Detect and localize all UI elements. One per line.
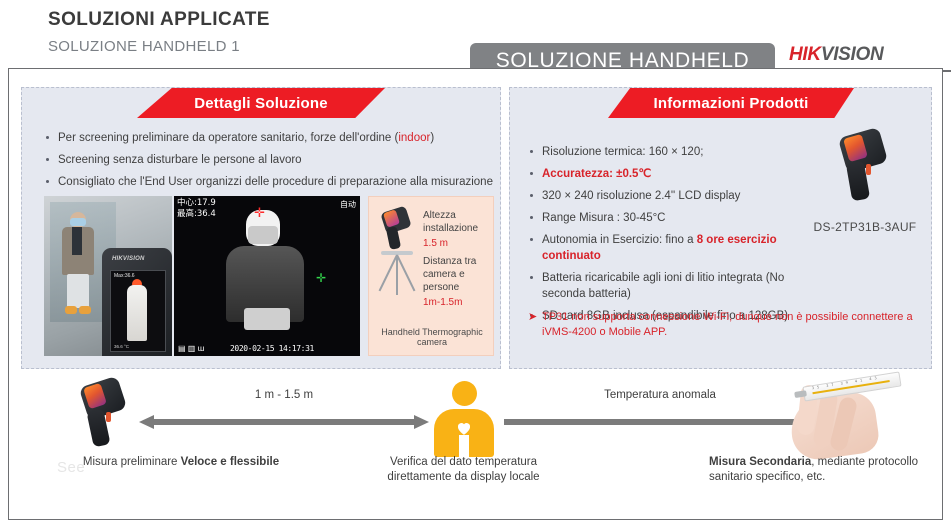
solution-details-list: Per screening preliminare da operatore s… — [44, 130, 494, 196]
person-scarf — [72, 227, 82, 255]
page-title: SOLUZIONI APPLICATE — [48, 9, 270, 31]
installation-info-text: Altezza installazione 1.5 m Distanza tra… — [423, 209, 489, 314]
workflow-handheld-camera-icon — [61, 379, 141, 457]
hikvision-logo: HIKVISION — [789, 44, 883, 66]
logo-vision-text: VISION — [821, 44, 884, 65]
spec-text: Range Misura : 30-45°C — [542, 212, 666, 224]
spec-text: Batteria ricaricabile agli ioni di litio… — [542, 272, 784, 300]
arrow-head-left-icon — [139, 415, 154, 429]
list-item: Autonomia in Esercizio: fino a 8 ore ese… — [528, 232, 798, 264]
slide-frame: Dettagli Soluzione Per screening prelimi… — [8, 68, 943, 520]
product-camera-trigger — [866, 164, 871, 175]
bullet-highlight: indoor — [398, 132, 430, 144]
install-distance-value: 1m-1.5m — [423, 296, 489, 309]
arrow-right-icon: ➤ — [528, 310, 537, 325]
caption1-text: Misura preliminare — [83, 456, 181, 468]
person-mask — [70, 218, 86, 226]
left-panel-banner-label: Dettagli Soluzione — [194, 95, 328, 112]
thermal-status-icons: ▤ ▥ ɯ — [178, 344, 204, 353]
kiosk-screen-top-text: Max:36.6 — [114, 273, 135, 279]
bullet-text: Screening senza disturbare le persone al… — [58, 154, 302, 166]
caption1-bold: Veloce e flessibile — [181, 456, 279, 468]
slide-header: SOLUZIONI APPLICATE SOLUZIONE HANDHELD 1… — [0, 0, 951, 68]
thermometer-tip — [794, 390, 807, 398]
thermal-timestamp: 2020-02-15 14:17:31 — [230, 344, 314, 353]
right-panel-banner: Informazioni Prodotti — [608, 88, 854, 118]
person-shoe-left — [65, 306, 77, 314]
tripod-stand — [377, 247, 417, 299]
kiosk-screen-figure — [127, 285, 147, 341]
left-panel-banner: Dettagli Soluzione — [137, 88, 385, 118]
person-leg-gap — [459, 435, 469, 457]
product-model-label: DS-2TP31B-3AUF — [798, 220, 932, 234]
thermal-max-temp: 最高:36.4 — [177, 209, 216, 220]
thermal-person-mask — [248, 226, 278, 244]
info-box-caption: Handheld Thermographic camera — [374, 327, 490, 347]
person-legs — [67, 274, 89, 308]
image-row: HIKVISION Max:36.6 36.6 °C 中心:17.9 — [44, 196, 494, 356]
caption3-bold: Misura Secondaria — [709, 456, 811, 468]
list-item: 320 × 240 risoluzione 2.4'' LCD display — [528, 188, 798, 204]
distance-label: 1 m - 1.5 m — [139, 389, 429, 401]
list-item: Range Misura : 30-45°C — [528, 210, 798, 226]
wifi-note-text: TP31 non supporta connessione Wi-Fi, dun… — [528, 310, 918, 340]
visible-light-photo: HIKVISION Max:36.6 36.6 °C — [44, 196, 172, 356]
panel-informazioni-prodotti: Informazioni Prodotti Risoluzione termic… — [509, 87, 932, 369]
arrow-bar — [153, 419, 415, 425]
hand-thermometer-illustration: 35 37 39 41 43 — [773, 377, 903, 459]
list-item: Risoluzione termica: 160 × 120; — [528, 144, 798, 160]
installation-info-box: Altezza installazione 1.5 m Distanza tra… — [368, 196, 494, 356]
person-shoe-right — [79, 306, 91, 314]
spec-text: Autonomia in Esercizio: fino a — [542, 234, 697, 246]
list-item: Consigliato che l'End User organizzi del… — [44, 174, 494, 190]
logo-hik-text: HIK — [789, 44, 821, 65]
spec-text-accuracy: Accuratezza: ±0.5℃ — [542, 168, 651, 180]
workflow-caption-2: Verifica del dato temperatura direttamen… — [371, 455, 556, 485]
tripod-camera-illustration — [375, 207, 419, 307]
bullet-text: Consigliato che l'End User organizzi del… — [58, 176, 493, 188]
thermal-person-hands — [244, 308, 290, 330]
thermal-max-crosshair-icon: ✛ — [254, 206, 265, 219]
list-item: Accuratezza: ±0.5℃ — [528, 166, 798, 182]
bullet-text-after: ) — [430, 132, 434, 144]
workflow-caption-1: Misura preliminare Veloce e flessibile — [71, 455, 291, 470]
product-spec-list: Risoluzione termica: 160 × 120; Accurate… — [528, 144, 798, 330]
kiosk-brand-label: HIKVISION — [112, 256, 144, 262]
anomaly-arrow — [504, 415, 816, 429]
kiosk-screen: Max:36.6 36.6 °C — [110, 270, 166, 352]
list-item: Screening senza disturbare le persone al… — [44, 152, 494, 168]
anomaly-label: Temperatura anomala — [504, 389, 816, 401]
panel-dettagli-soluzione: Dettagli Soluzione Per screening prelimi… — [21, 87, 501, 369]
thermal-center-temp: 中心:17.9 — [177, 198, 216, 209]
thermal-readout: 中心:17.9 最高:36.4 — [177, 198, 216, 220]
spec-text: Risoluzione termica: 160 × 120; — [542, 146, 703, 158]
photo-person — [60, 212, 96, 316]
spec-text: 320 × 240 risoluzione 2.4'' LCD display — [542, 190, 740, 202]
tripod-leg — [396, 255, 415, 292]
install-distance-label: Distanza tra camera e persone — [423, 255, 489, 294]
workflow-diagram: See 1 m - 1.5 m Temperatura anomala — [21, 375, 932, 510]
workflow-caption-3: Misura Secondaria, mediante protocollo s… — [709, 455, 939, 485]
thermal-kiosk: HIKVISION Max:36.6 36.6 °C — [102, 248, 172, 356]
list-item: Per screening preliminare da operatore s… — [44, 130, 494, 146]
product-image: DS-2TP31B-3AUF — [810, 128, 920, 258]
heart-icon — [455, 419, 473, 437]
page-subtitle: SOLUZIONE HANDHELD 1 — [48, 38, 240, 55]
thermal-auto-label: 自动 — [340, 199, 356, 210]
person-icon — [433, 381, 495, 457]
thermal-image: 中心:17.9 最高:36.4 自动 ✛ ✛ ▤ ▥ ɯ 2020-02-15 … — [174, 196, 360, 356]
install-height-value: 1.5 m — [423, 237, 489, 250]
right-panel-banner-label: Informazioni Prodotti — [653, 95, 808, 112]
distance-arrow — [139, 415, 429, 429]
arrow-bar — [504, 419, 799, 425]
person-head — [452, 381, 477, 406]
camera-trigger — [106, 412, 111, 422]
tripod-leg — [396, 255, 398, 295]
list-item: Batteria ricaricabile agli ioni di litio… — [528, 270, 798, 302]
install-height-label: Altezza installazione — [423, 209, 489, 235]
arrow-head-right-icon — [414, 415, 429, 429]
bullet-text: Per screening preliminare da operatore s… — [58, 132, 398, 144]
tripod-leg — [379, 255, 398, 292]
wifi-note: ➤ TP31 non supporta connessione Wi-Fi, d… — [528, 310, 918, 340]
kiosk-screen-bottom-text: 36.6 °C — [114, 344, 129, 349]
thermal-center-crosshair-icon: ✛ — [316, 272, 326, 284]
